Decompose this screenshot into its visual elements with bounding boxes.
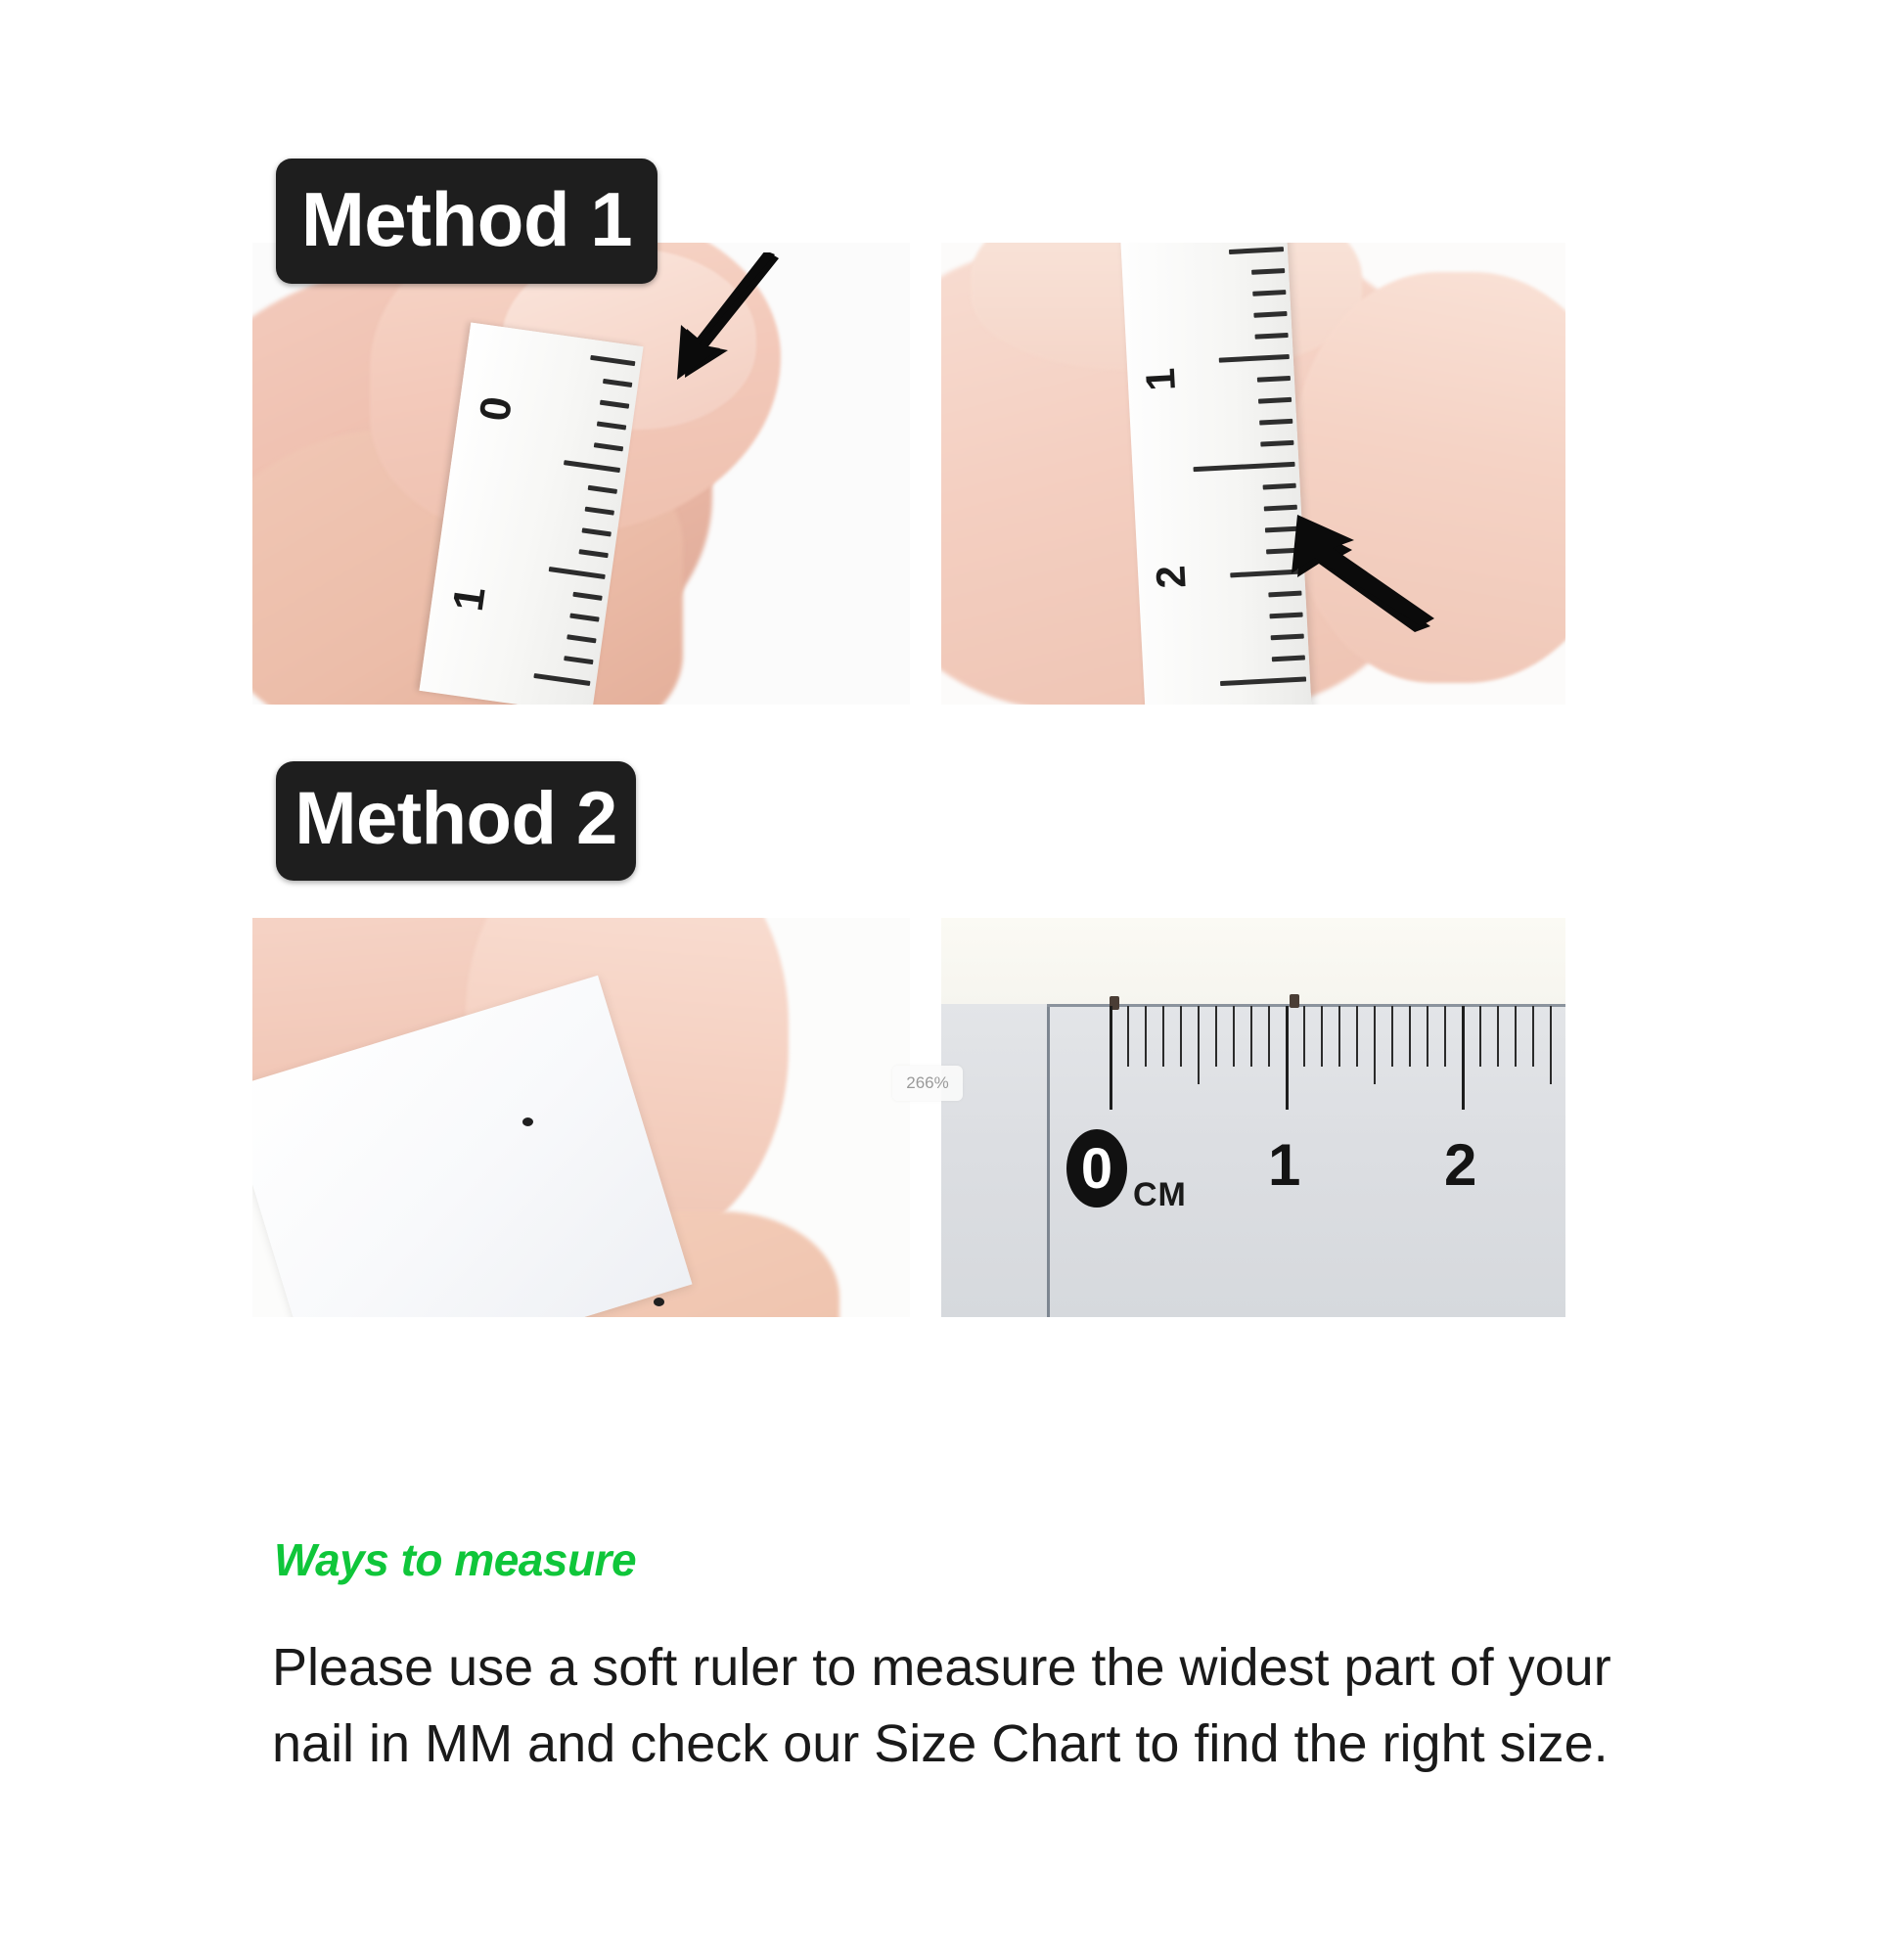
- ways-to-measure-heading: Ways to measure: [274, 1533, 636, 1586]
- ruler-top-edge: [1047, 1004, 1565, 1007]
- tape-number-1: 1: [1140, 367, 1182, 392]
- method-2-label: Method 2: [295, 782, 617, 860]
- zoom-level-indicator: 266%: [892, 1066, 963, 1101]
- ruler-left-edge: [1047, 1004, 1050, 1317]
- method-2-badge: Method 2: [276, 761, 636, 881]
- ruler-number-2: 2: [1444, 1131, 1476, 1199]
- method-1-label: Method 1: [301, 181, 632, 261]
- tape-number-1: 1: [447, 584, 493, 614]
- photo-method1-right: 1 2: [941, 243, 1565, 705]
- desk-surface: [941, 918, 1565, 1004]
- photo-method2-right: 0 CM 1 2 3: [941, 918, 1565, 1317]
- paper-mark-nub-end: [1290, 994, 1299, 1008]
- method-1-badge: Method 1: [276, 159, 657, 284]
- photo-method1-left: 0 1: [252, 243, 910, 705]
- pen-mark-end: [654, 1298, 664, 1306]
- tape-number-0: 0: [474, 394, 520, 424]
- pen-mark-start: [522, 1117, 533, 1126]
- up-left-arrow-icon: [1264, 509, 1440, 636]
- tape-number-2: 2: [1150, 565, 1192, 590]
- photo-method2-left: [252, 918, 910, 1317]
- measure-instructions-text: Please use a soft ruler to measure the w…: [272, 1629, 1622, 1783]
- page-root: 0 1: [0, 0, 1904, 1960]
- down-left-arrow-icon: [642, 252, 789, 389]
- ruler-unit-label: CM: [1133, 1176, 1187, 1214]
- ruler-zero-label: 0: [1066, 1129, 1127, 1208]
- plastic-ruler: 0 CM 1 2 3: [941, 1004, 1565, 1317]
- ruler-number-1: 1: [1268, 1131, 1300, 1199]
